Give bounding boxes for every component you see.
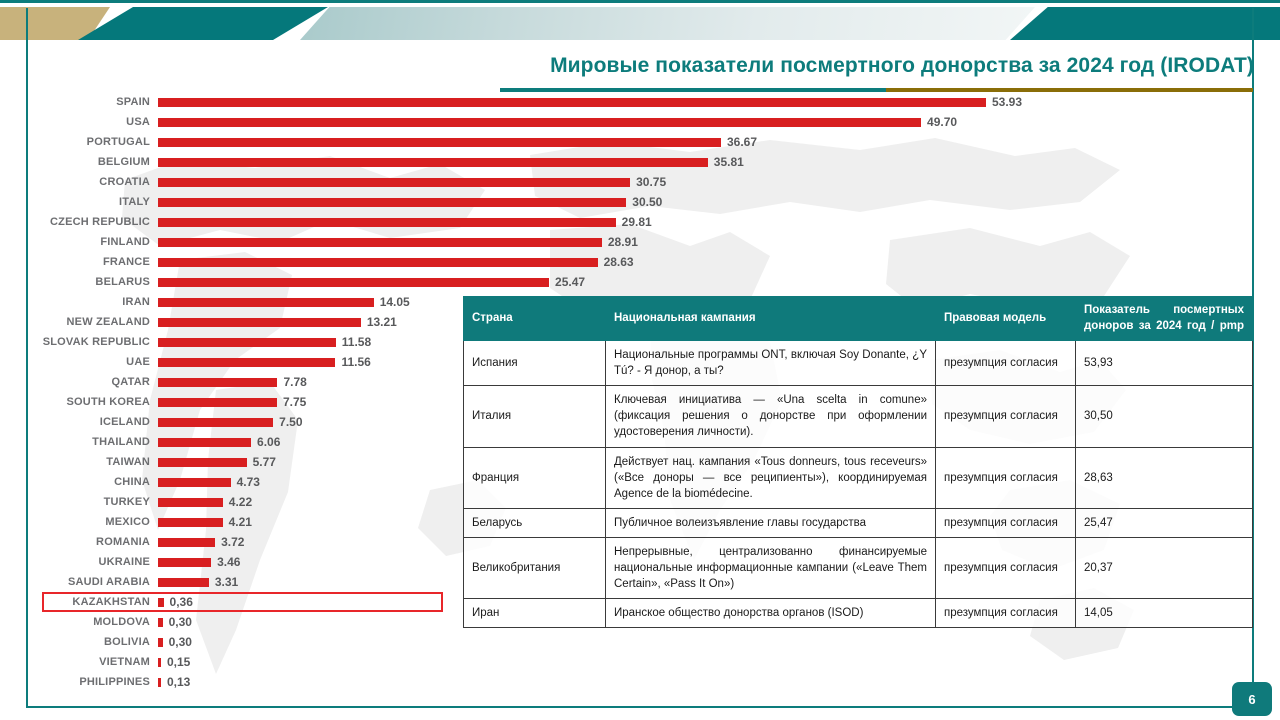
chart-bar (158, 578, 209, 587)
chart-bar-track: 35.81 (158, 152, 1018, 172)
chart-bar-row: ITALY30.50 (30, 192, 1030, 212)
table-cell-model: презумпция согласия (936, 508, 1076, 537)
table-row: ВеликобританияНепрерывные, централизован… (464, 537, 1253, 598)
chart-bar-row: CROATIA30.75 (30, 172, 1030, 192)
chart-category-label: SOUTH KOREA (30, 396, 158, 408)
chart-bar (158, 378, 277, 387)
chart-value-label: 53.93 (992, 95, 1022, 109)
table-cell-rate: 14,05 (1076, 599, 1253, 628)
table-cell-model: презумпция согласия (936, 447, 1076, 508)
chart-bar (158, 538, 215, 547)
chart-bar (158, 298, 374, 307)
chart-category-label: UKRAINE (30, 556, 158, 568)
table-row: ИранИранское общество донорства органов … (464, 599, 1253, 628)
chart-bar-track: 30.50 (158, 192, 1018, 212)
table-cell-model: презумпция согласия (936, 341, 1076, 386)
table-header-rate: Показатель посмертных доноров за 2024 го… (1076, 297, 1253, 341)
chart-bar (158, 498, 223, 507)
chart-bar (158, 678, 161, 687)
country-campaign-table-wrap: Страна Национальная кампания Правовая мо… (463, 296, 1252, 677)
chart-category-label: UAE (30, 356, 158, 368)
chart-value-label: 0,36 (170, 595, 193, 609)
slide-canvas: Мировые показатели посмертного донорства… (0, 0, 1280, 720)
chart-value-label: 7.50 (279, 415, 302, 429)
chart-bar (158, 278, 549, 287)
chart-value-label: 28.63 (604, 255, 634, 269)
chart-category-label: ICELAND (30, 416, 158, 428)
chart-category-label: USA (30, 116, 158, 128)
table-cell-campaign: Ключевая инициатива — «Una scelta in com… (606, 386, 936, 447)
table-cell-model: презумпция согласия (936, 599, 1076, 628)
chart-bar-track: 28.63 (158, 252, 1018, 272)
chart-category-label: SLOVAK REPUBLIC (30, 336, 158, 348)
table-cell-rate: 53,93 (1076, 341, 1253, 386)
table-row: БеларусьПубличное волеизъявление главы г… (464, 508, 1253, 537)
banner-top-rule (0, 0, 1280, 3)
chart-bar (158, 598, 164, 607)
chart-bar (158, 618, 163, 627)
chart-bar (158, 458, 247, 467)
banner-segment-teal-right (1010, 7, 1280, 40)
chart-bar (158, 638, 163, 647)
table-cell-country: Беларусь (464, 508, 606, 537)
chart-value-label: 3.72 (221, 535, 244, 549)
chart-bar (158, 438, 251, 447)
chart-category-label: CHINA (30, 476, 158, 488)
chart-category-label: VIETNAM (30, 656, 158, 668)
chart-category-label: NEW ZEALAND (30, 316, 158, 328)
chart-bar (158, 138, 721, 147)
chart-category-label: QATAR (30, 376, 158, 388)
chart-category-label: PHILIPPINES (30, 676, 158, 688)
table-cell-country: Иран (464, 599, 606, 628)
chart-bar (158, 158, 708, 167)
chart-value-label: 25.47 (555, 275, 585, 289)
chart-bar-row: BELGIUM35.81 (30, 152, 1030, 172)
chart-category-label: MEXICO (30, 516, 158, 528)
chart-bar (158, 478, 231, 487)
chart-value-label: 4.73 (237, 475, 260, 489)
chart-bar (158, 258, 598, 267)
table-cell-country: Италия (464, 386, 606, 447)
chart-value-label: 6.06 (257, 435, 280, 449)
chart-bar (158, 318, 361, 327)
chart-value-label: 13.21 (367, 315, 397, 329)
chart-category-label: IRAN (30, 296, 158, 308)
banner-segment-gradient (300, 7, 1035, 40)
table-cell-country: Великобритания (464, 537, 606, 598)
chart-value-label: 5.77 (253, 455, 276, 469)
table-cell-campaign: Непрерывные, централизованно финансируем… (606, 537, 936, 598)
chart-value-label: 30.50 (632, 195, 662, 209)
chart-bar-row: BELARUS25.47 (30, 272, 1030, 292)
chart-category-label: ITALY (30, 196, 158, 208)
chart-category-label: SPAIN (30, 96, 158, 108)
chart-bar-row: PORTUGAL36.67 (30, 132, 1030, 152)
chart-bar-track: 30.75 (158, 172, 1018, 192)
chart-bar (158, 218, 616, 227)
table-cell-rate: 20,37 (1076, 537, 1253, 598)
chart-bar-track: 49.70 (158, 112, 1018, 132)
slide-border-left (26, 8, 28, 708)
chart-value-label: 0,13 (167, 675, 190, 689)
chart-bar-row: USA49.70 (30, 112, 1030, 132)
chart-value-label: 11.58 (342, 335, 371, 349)
chart-value-label: 4.21 (229, 515, 252, 529)
country-campaign-table: Страна Национальная кампания Правовая мо… (463, 296, 1253, 628)
page-number-badge: 6 (1232, 682, 1272, 716)
chart-bar (158, 198, 626, 207)
chart-category-label: THAILAND (30, 436, 158, 448)
chart-bar (158, 358, 335, 367)
chart-value-label: 0,30 (169, 635, 192, 649)
chart-value-label: 36.67 (727, 135, 757, 149)
chart-bar (158, 238, 602, 247)
chart-value-label: 35.81 (714, 155, 744, 169)
chart-category-label: TURKEY (30, 496, 158, 508)
table-cell-rate: 30,50 (1076, 386, 1253, 447)
table-row: ИталияКлючевая инициатива — «Una scelta … (464, 386, 1253, 447)
chart-category-label: PORTUGAL (30, 136, 158, 148)
chart-value-label: 3.31 (215, 575, 238, 589)
chart-category-label: CROATIA (30, 176, 158, 188)
table-cell-rate: 28,63 (1076, 447, 1253, 508)
chart-value-label: 28.91 (608, 235, 638, 249)
chart-value-label: 0,30 (169, 615, 192, 629)
header-banner (0, 0, 1280, 40)
chart-bar-track: 29.81 (158, 212, 1018, 232)
table-header-country: Страна (464, 297, 606, 341)
table-cell-rate: 25,47 (1076, 508, 1253, 537)
table-header-row: Страна Национальная кампания Правовая мо… (464, 297, 1253, 341)
chart-bar-track: 53.93 (158, 92, 1018, 112)
chart-category-label: KAZAKHSTAN (30, 596, 158, 608)
chart-bar (158, 178, 630, 187)
chart-bar (158, 338, 336, 347)
table-cell-campaign: Национальные программы ONT, включая Soy … (606, 341, 936, 386)
chart-category-label: MOLDOVA (30, 616, 158, 628)
table-cell-campaign: Публичное волеизъявление главы государст… (606, 508, 936, 537)
table-row: ИспанияНациональные программы ONT, включ… (464, 341, 1253, 386)
table-header-model: Правовая модель (936, 297, 1076, 341)
chart-value-label: 7.78 (283, 375, 306, 389)
chart-category-label: BELARUS (30, 276, 158, 288)
chart-value-label: 3.46 (217, 555, 240, 569)
chart-bar-row: SPAIN53.93 (30, 92, 1030, 112)
chart-bar-row: CZECH REPUBLIC29.81 (30, 212, 1030, 232)
table-header-campaign: Национальная кампания (606, 297, 936, 341)
chart-bar-track: 36.67 (158, 132, 1018, 152)
table-row: ФранцияДействует нац. кампания «Tous don… (464, 447, 1253, 508)
table-cell-campaign: Действует нац. кампания «Tous donneurs, … (606, 447, 936, 508)
chart-category-label: SAUDI ARABIA (30, 576, 158, 588)
chart-category-label: BELGIUM (30, 156, 158, 168)
table-body: ИспанияНациональные программы ONT, включ… (464, 341, 1253, 628)
chart-bar-track: 28.91 (158, 232, 1018, 252)
banner-segment-teal (78, 7, 328, 40)
chart-bar (158, 658, 161, 667)
chart-value-label: 7.75 (283, 395, 306, 409)
table-cell-country: Франция (464, 447, 606, 508)
table-cell-campaign: Иранское общество донорства органов (ISO… (606, 599, 936, 628)
chart-value-label: 30.75 (636, 175, 666, 189)
chart-bar (158, 518, 223, 527)
chart-value-label: 14.05 (380, 295, 410, 309)
chart-value-label: 49.70 (927, 115, 957, 129)
chart-category-label: ROMANIA (30, 536, 158, 548)
chart-value-label: 4.22 (229, 495, 252, 509)
chart-bar-row: FRANCE28.63 (30, 252, 1030, 272)
table-cell-model: презумпция согласия (936, 386, 1076, 447)
chart-bar-track: 25.47 (158, 272, 1018, 292)
chart-category-label: FRANCE (30, 256, 158, 268)
table-cell-model: презумпция согласия (936, 537, 1076, 598)
chart-category-label: BOLIVIA (30, 636, 158, 648)
chart-category-label: TAIWAN (30, 456, 158, 468)
chart-bar-row: FINLAND28.91 (30, 232, 1030, 252)
chart-bar (158, 558, 211, 567)
table-cell-country: Испания (464, 341, 606, 386)
slide-title: Мировые показатели посмертного донорства… (430, 52, 1254, 80)
chart-bar (158, 118, 921, 127)
chart-value-label: 11.56 (341, 355, 370, 369)
chart-bar (158, 418, 273, 427)
chart-bar (158, 398, 277, 407)
chart-bar (158, 98, 986, 107)
chart-value-label: 0,15 (167, 655, 190, 669)
chart-category-label: FINLAND (30, 236, 158, 248)
chart-value-label: 29.81 (622, 215, 652, 229)
chart-category-label: CZECH REPUBLIC (30, 216, 158, 228)
slide-border-bottom (26, 706, 1254, 708)
